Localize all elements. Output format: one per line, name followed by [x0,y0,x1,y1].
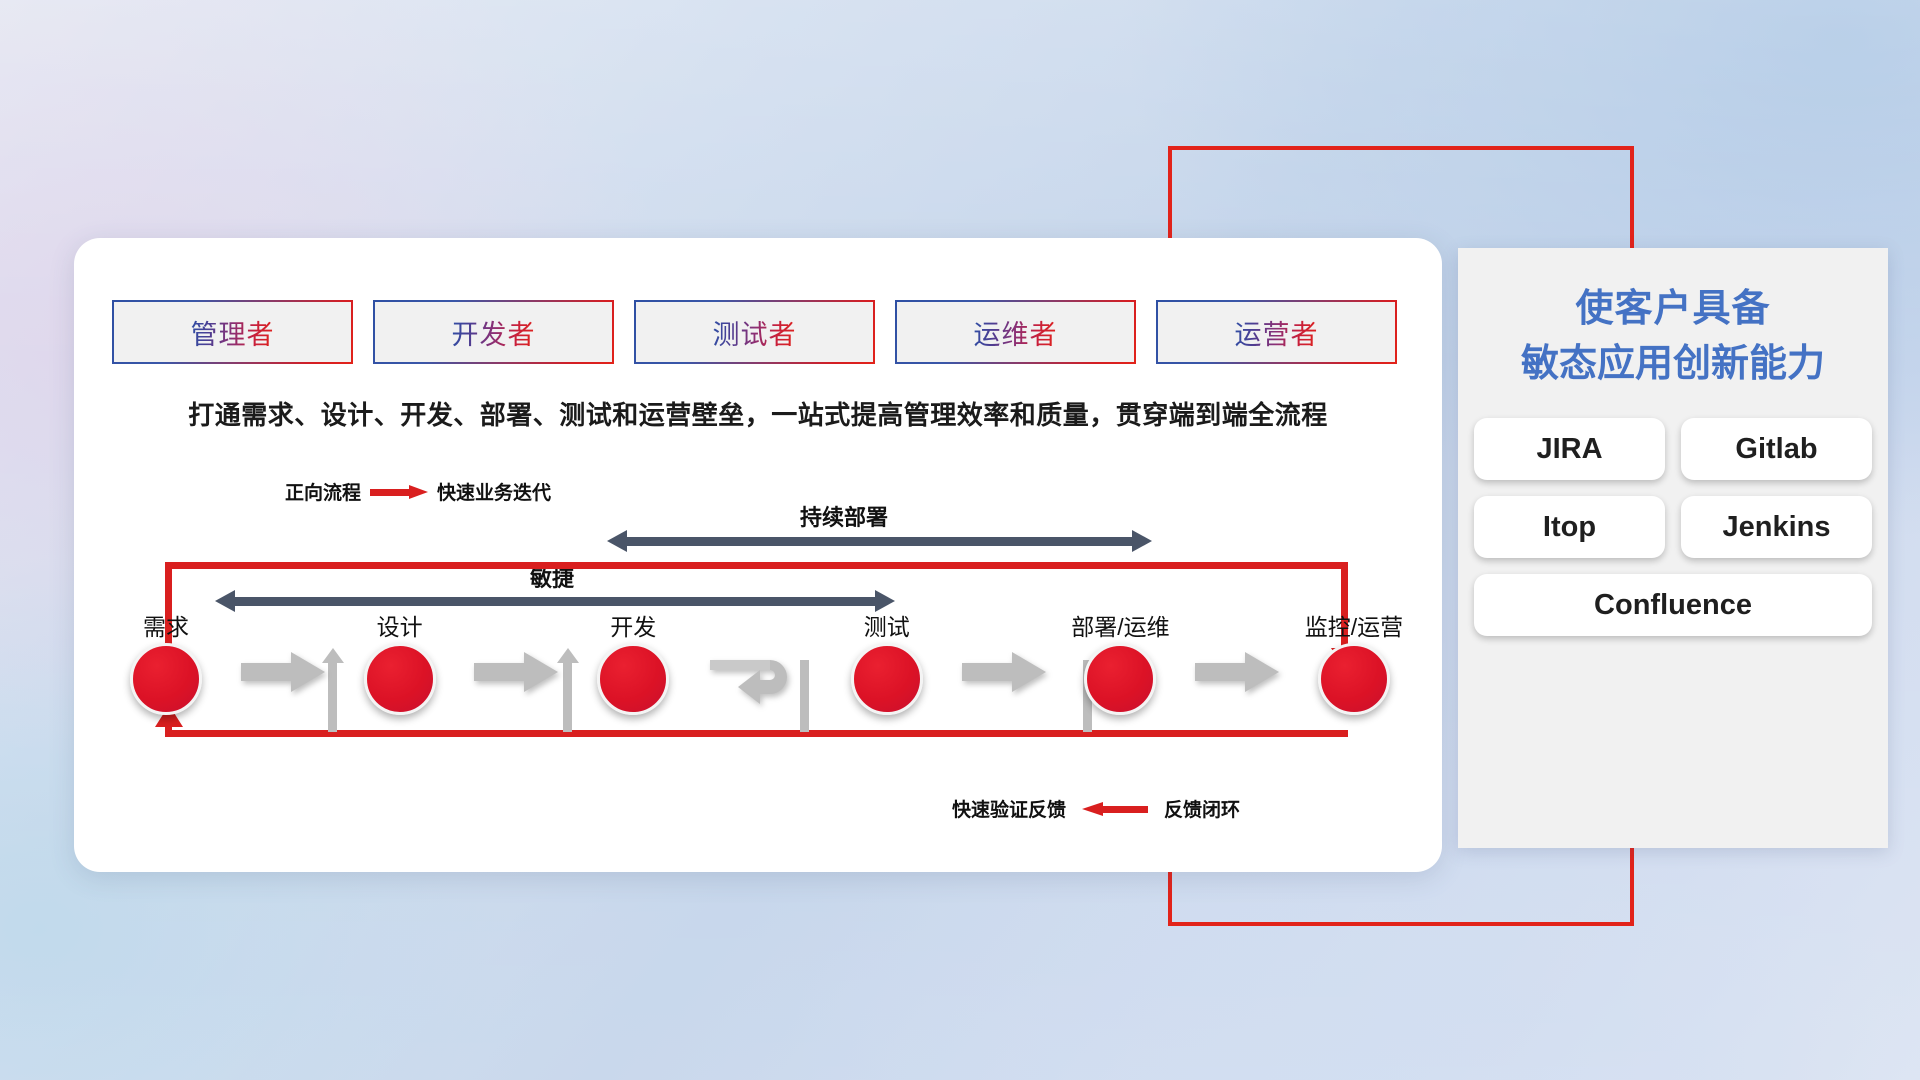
stage-node-circle [1084,643,1156,715]
red-loop-bottom-segment [165,730,1348,737]
role-label: 管理者 [191,313,275,352]
tool-button-jira[interactable]: JIRA [1474,418,1665,480]
pipeline-stage-develop[interactable]: 开发 [585,616,681,715]
red-arrow-right-icon [370,485,428,499]
pipeline-stage-design[interactable]: 设计 [352,616,448,715]
agile-arrow [215,590,895,612]
connector-slot [681,616,839,720]
arrow-head-right-icon [875,590,895,612]
stage-node-circle [851,643,923,715]
arrow-bar [231,597,879,606]
stage-node-circle [1318,643,1390,715]
stage-node-circle [597,643,669,715]
legend-feedback-loop: 快速验证反馈 反馈闭环 [952,795,1240,822]
tool-button-jenkins[interactable]: Jenkins [1681,496,1872,558]
connector-slot [214,616,352,692]
stage-label: 部署/运维 [1071,616,1169,639]
role-box-developer[interactable]: 开发者 [373,300,614,364]
grey-arrow-right-icon [241,652,325,692]
role-box-manager[interactable]: 管理者 [112,300,353,364]
connector-slot [448,616,586,692]
role-box-ops[interactable]: 运维者 [895,300,1136,364]
tool-button-confluence[interactable]: Confluence [1474,574,1872,636]
pipeline-stage-test[interactable]: 测试 [839,616,935,715]
stage-node-circle [130,643,202,715]
arrow-bar [623,537,1136,546]
grey-arrow-right-icon [962,652,1046,692]
legend-forward-right-label: 快速业务迭代 [437,478,551,505]
panel-title-line2: 敏态应用创新能力 [1458,337,1888,392]
continuous-deployment-caption: 持续部署 [800,500,888,532]
panel-title: 使客户具备 敏态应用创新能力 [1458,282,1888,392]
right-tools-panel: 使客户具备 敏态应用创新能力 JIRA Gitlab Itop Jenkins … [1458,248,1888,848]
role-label: 测试者 [713,313,797,352]
tools-grid: JIRA Gitlab Itop Jenkins Confluence [1474,418,1872,636]
connector-slot [935,616,1073,692]
stage-label: 测试 [864,616,910,639]
panel-title-line1: 使客户具备 [1458,282,1888,337]
diagram-stage: 管理者 开发者 测试者 运维者 运营者 打通需求、设计、开发、部署、测试和运营壁… [0,0,1920,1080]
role-label: 开发者 [452,313,536,352]
stage-node-circle [364,643,436,715]
legend-feedback-right-label: 反馈闭环 [1164,795,1240,822]
stage-label: 需求 [143,616,189,639]
role-label: 运营者 [1235,313,1319,352]
grey-arrow-right-icon [1195,652,1279,692]
stage-label: 监控/运营 [1305,616,1403,639]
tool-button-gitlab[interactable]: Gitlab [1681,418,1872,480]
legend-feedback-left-label: 快速验证反馈 [952,795,1066,822]
legend-forward-flow: 正向流程 快速业务迭代 [285,478,551,505]
red-arrow-left-icon [1082,802,1148,816]
role-boxes-row: 管理者 开发者 测试者 运维者 运营者 [112,300,1397,364]
grey-uturn-loop-icon [708,652,812,720]
stage-label: 开发 [610,616,656,639]
role-label: 运维者 [974,313,1058,352]
stage-label: 设计 [377,616,423,639]
continuous-deployment-arrow [607,530,1152,552]
grey-arrow-right-icon [474,652,558,692]
tool-button-itop[interactable]: Itop [1474,496,1665,558]
pipeline-stage-monitor-operate[interactable]: 监控/运营 [1306,616,1402,715]
headline-text: 打通需求、设计、开发、部署、测试和运营壁垒，一站式提高管理效率和质量，贯穿端到端… [74,395,1442,432]
arrow-head-right-icon [1132,530,1152,552]
red-loop-top-segment [165,562,1348,569]
role-box-operator[interactable]: 运营者 [1156,300,1397,364]
role-box-tester[interactable]: 测试者 [634,300,875,364]
connector-slot [1168,616,1306,692]
pipeline-stage-requirements[interactable]: 需求 [118,616,214,715]
pipeline-stage-deploy-ops[interactable]: 部署/运维 [1072,616,1168,715]
pipeline-row: 需求 设计 开发 [118,616,1402,726]
legend-forward-left-label: 正向流程 [285,478,361,505]
